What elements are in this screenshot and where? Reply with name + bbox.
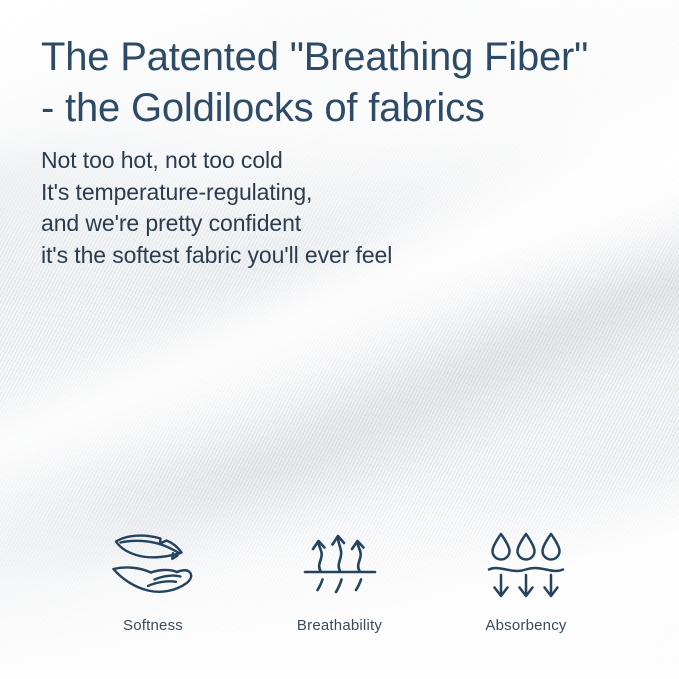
subcopy: Not too hot, not too cold It's temperatu… [41, 145, 392, 271]
water-drops-downward-arrows-icon [484, 528, 568, 604]
subcopy-line-1: Not too hot, not too cold [41, 145, 392, 177]
upward-airflow-arrows-icon [301, 528, 379, 604]
headline-line-2: - the Goldilocks of fabrics [41, 83, 665, 134]
feature-absorbency: Absorbency [433, 528, 619, 634]
feature-label-breathability: Breathability [297, 617, 382, 634]
banner-content: The Patented "Breathing Fiber" - the Gol… [0, 0, 679, 679]
subcopy-line-4: it's the softest fabric you'll ever feel [41, 240, 392, 272]
feather-on-hand-icon [107, 528, 199, 604]
product-feature-banner: The Patented "Breathing Fiber" - the Gol… [0, 0, 679, 679]
headline: The Patented "Breathing Fiber" - the Gol… [41, 32, 665, 134]
feature-breathability: Breathability [247, 528, 433, 634]
feature-softness: Softness [60, 528, 246, 634]
headline-line-1: The Patented "Breathing Fiber" [41, 32, 665, 83]
feature-row: Softness [60, 528, 619, 634]
feature-label-absorbency: Absorbency [485, 617, 566, 634]
feature-label-softness: Softness [123, 617, 183, 634]
subcopy-line-3: and we're pretty confident [41, 208, 392, 240]
subcopy-line-2: It's temperature-regulating, [41, 177, 392, 209]
